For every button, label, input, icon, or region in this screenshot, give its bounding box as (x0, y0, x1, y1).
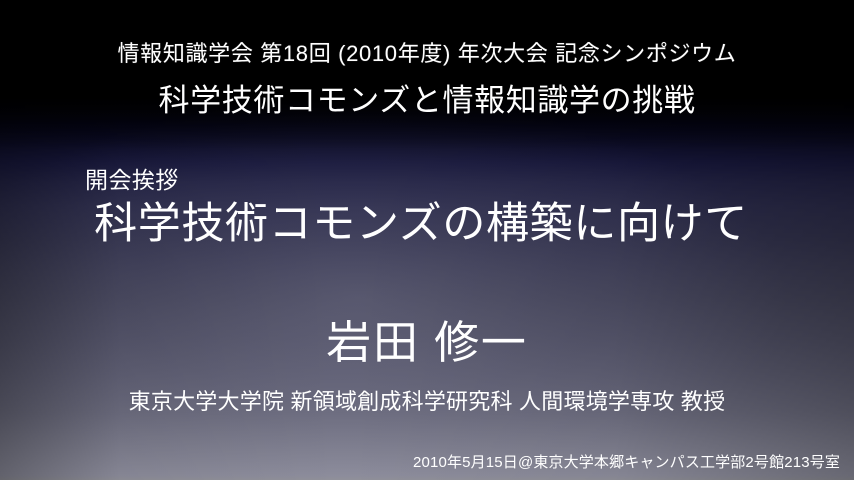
session-label: 開会挨拶 (85, 165, 179, 195)
title-slide: 情報知識学会 第18回 (2010年度) 年次大会 記念シンポジウム 科学技術コ… (0, 0, 854, 480)
slide-content: 情報知識学会 第18回 (2010年度) 年次大会 記念シンポジウム 科学技術コ… (0, 0, 854, 480)
speaker-affiliation: 東京大学大学院 新領域創成科学研究科 人間環境学専攻 教授 (0, 387, 854, 417)
venue-date-footer: 2010年5月15日@東京大学本郷キャンパス工学部2号館213号室 (413, 452, 840, 473)
symposium-title: 科学技術コモンズと情報知識学の挑戦 (0, 80, 854, 122)
speaker-name: 岩田 修一 (0, 314, 854, 372)
talk-title: 科学技術コモンズの構築に向けて (0, 196, 854, 252)
conference-line: 情報知識学会 第18回 (2010年度) 年次大会 記念シンポジウム (0, 39, 854, 69)
